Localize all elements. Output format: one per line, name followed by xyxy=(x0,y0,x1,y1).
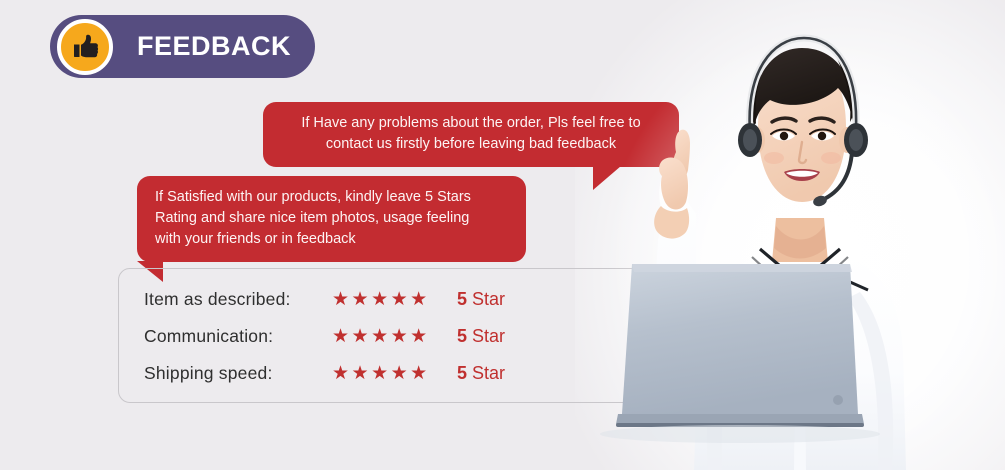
bubble-line: Rating and share nice item photos, usage… xyxy=(155,208,508,229)
rating-score: 5 Star xyxy=(457,363,505,384)
rating-score-number: 5 xyxy=(457,326,467,346)
rating-label: Communication: xyxy=(144,326,332,347)
feedback-banner: FEEDBACK If Have any problems about the … xyxy=(0,0,1005,470)
rating-score-unit: Star xyxy=(472,363,505,383)
rating-score-unit: Star xyxy=(472,326,505,346)
speech-bubble-positive-feedback: If Satisfied with our products, kindly l… xyxy=(137,176,526,262)
star-rating-icon: ★★★★★ xyxy=(332,288,457,311)
rating-score-number: 5 xyxy=(457,363,467,383)
rating-label: Shipping speed: xyxy=(144,363,332,384)
rating-score-unit: Star xyxy=(472,289,505,309)
bubble-line: If Have any problems about the order, Pl… xyxy=(281,113,661,134)
rating-row-shipping-speed: Shipping speed: ★★★★★ 5 Star xyxy=(144,355,564,392)
rating-row-item-as-described: Item as described: ★★★★★ 5 Star xyxy=(144,281,564,318)
star-rating-icon: ★★★★★ xyxy=(332,325,457,348)
speech-bubble-negative-feedback: If Have any problems about the order, Pl… xyxy=(263,102,679,167)
bubble-line: with your friends or in feedback xyxy=(155,229,508,250)
rating-label: Item as described: xyxy=(144,289,332,310)
rating-row-communication: Communication: ★★★★★ 5 Star xyxy=(144,318,564,355)
thumbs-up-icon xyxy=(57,19,113,75)
bubble-line: contact us firstly before leaving bad fe… xyxy=(281,134,661,155)
page-title: FEEDBACK xyxy=(137,15,291,78)
rating-score: 5 Star xyxy=(457,326,505,347)
rating-score-number: 5 xyxy=(457,289,467,309)
ratings-list: Item as described: ★★★★★ 5 Star Communic… xyxy=(144,281,564,392)
bubble-line: If Satisfied with our products, kindly l… xyxy=(155,187,508,208)
rating-score: 5 Star xyxy=(457,289,505,310)
speech-bubble-tail xyxy=(593,166,621,190)
feedback-header-pill: FEEDBACK xyxy=(50,15,315,78)
star-rating-icon: ★★★★★ xyxy=(332,362,457,385)
